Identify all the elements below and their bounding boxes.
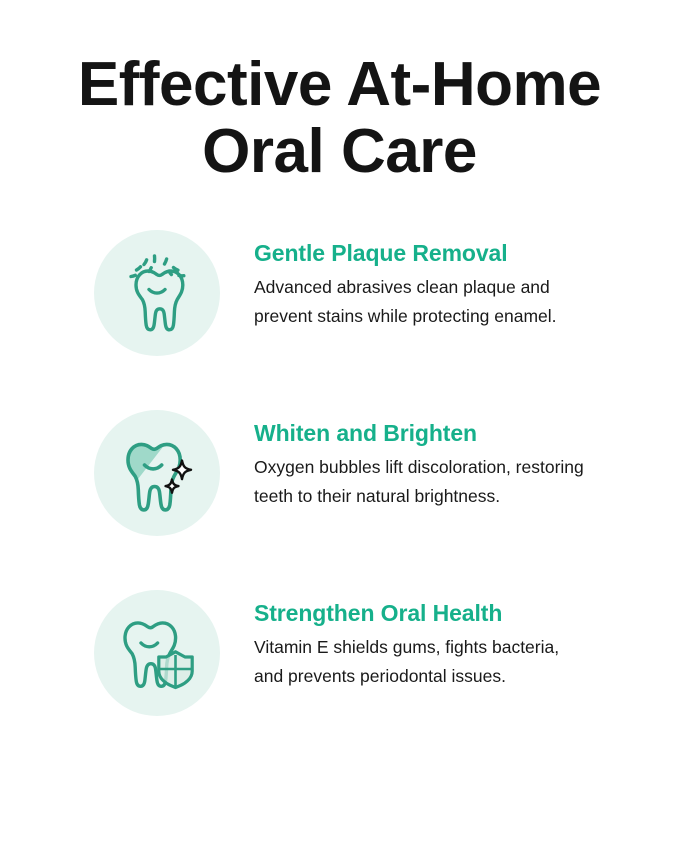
tooth-whitening-sparkle-icon <box>111 427 203 519</box>
list-item: Strengthen Oral Health Vitamin E shields… <box>94 588 633 716</box>
page-title: Effective At-Home Oral Care <box>0 0 679 186</box>
list-item: Whiten and Brighten Oxygen bubbles lift … <box>94 408 633 536</box>
feature-body: Vitamin E shields gums, fights bacteria,… <box>254 633 584 691</box>
infographic-page: Effective At-Home Oral Care <box>0 0 679 849</box>
icon-badge <box>94 230 220 356</box>
icon-badge <box>94 590 220 716</box>
page-title-line-2: Oral Care <box>40 119 639 186</box>
list-item: Gentle Plaque Removal Advanced abrasives… <box>94 228 633 356</box>
icon-badge <box>94 410 220 536</box>
feature-body: Oxygen bubbles lift discoloration, resto… <box>254 453 584 511</box>
feature-list: Gentle Plaque Removal Advanced abrasives… <box>0 228 679 716</box>
page-title-line-1: Effective At-Home <box>40 52 639 119</box>
feature-heading: Whiten and Brighten <box>254 420 633 448</box>
page-title-text: Effective At-Home Oral Care <box>40 52 639 186</box>
feature-heading: Gentle Plaque Removal <box>254 240 633 268</box>
feature-heading: Strengthen Oral Health <box>254 600 633 628</box>
tooth-shield-protection-icon <box>111 607 203 699</box>
tooth-sparkle-clean-icon <box>111 247 203 339</box>
feature-body: Advanced abrasives clean plaque and prev… <box>254 273 584 331</box>
feature-text-block: Strengthen Oral Health Vitamin E shields… <box>254 588 633 691</box>
feature-text-block: Whiten and Brighten Oxygen bubbles lift … <box>254 408 633 511</box>
feature-text-block: Gentle Plaque Removal Advanced abrasives… <box>254 228 633 331</box>
